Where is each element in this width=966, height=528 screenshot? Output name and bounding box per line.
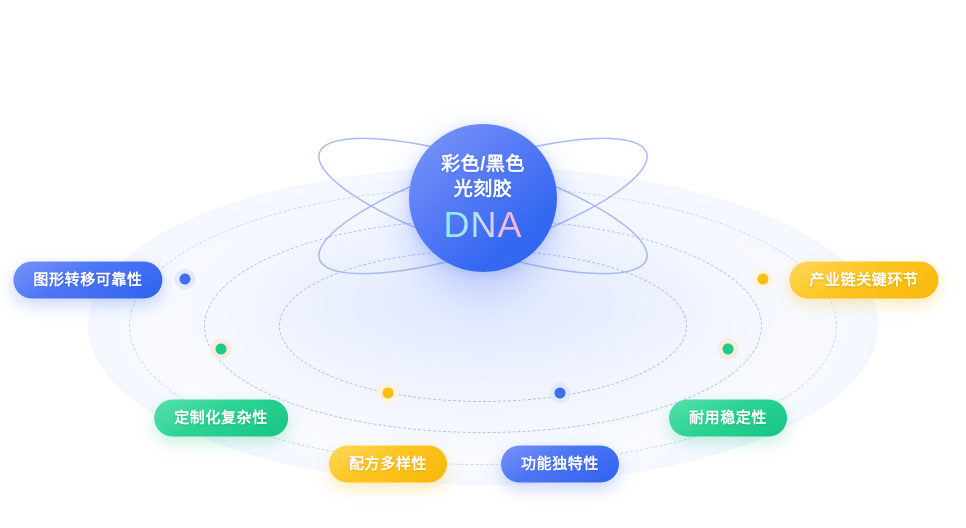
dot-bottom-left bbox=[383, 388, 394, 399]
dot-right-mid bbox=[723, 344, 734, 355]
pill-industry-chain-key-link[interactable]: 产业链关键环节 bbox=[789, 262, 938, 299]
pill-customization-complexity[interactable]: 定制化复杂性 bbox=[154, 400, 288, 437]
core-acronym: DNA bbox=[443, 205, 522, 245]
dot-left-mid bbox=[216, 344, 227, 355]
dot-left-upper bbox=[180, 274, 191, 285]
pill-functional-uniqueness[interactable]: 功能独特性 bbox=[501, 446, 619, 483]
core-title-line-2: 光刻胶 bbox=[454, 177, 513, 202]
dot-bottom-right bbox=[555, 388, 566, 399]
infographic-canvas: 彩色/黑色 光刻胶 DNA 图形转移可靠性产业链关键环节定制化复杂性耐用稳定性配… bbox=[0, 0, 966, 528]
orbit-ring-inner bbox=[279, 250, 687, 402]
pill-formula-diversity[interactable]: 配方多样性 bbox=[329, 446, 447, 483]
pill-pattern-transfer-reliability[interactable]: 图形转移可靠性 bbox=[13, 262, 162, 299]
pill-durability-stability[interactable]: 耐用稳定性 bbox=[669, 400, 787, 437]
core-title-line-1: 彩色/黑色 bbox=[441, 152, 525, 177]
core-sphere: 彩色/黑色 光刻胶 DNA bbox=[409, 124, 557, 272]
dot-right-upper bbox=[758, 274, 769, 285]
